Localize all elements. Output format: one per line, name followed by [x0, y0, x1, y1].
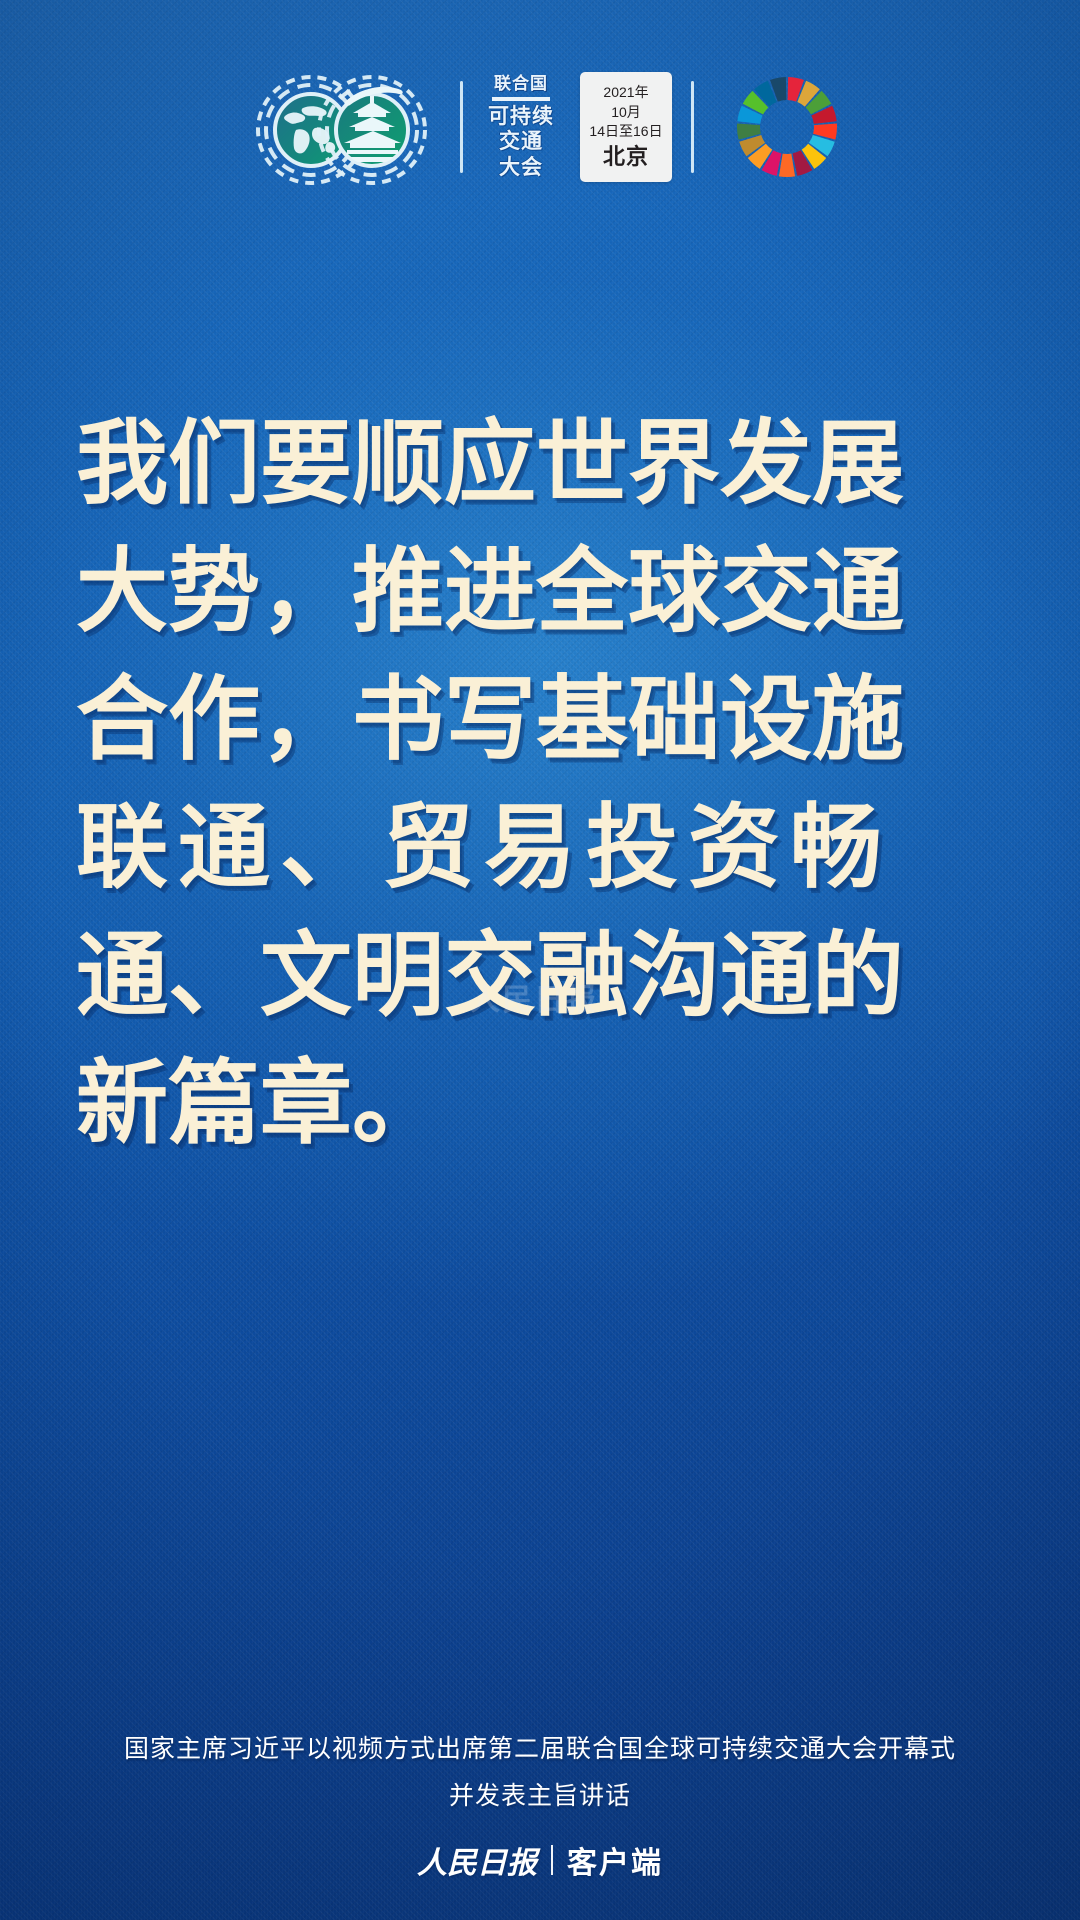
sdg-wheel-segment: [779, 154, 795, 177]
date-year: 2021年: [603, 83, 648, 102]
footer-brand: 人民日报 客户端: [0, 1838, 1080, 1882]
caption-line-1: 国家主席习近平以视频方式出席第二届联合国全球可持续交通大会开幕式: [0, 1725, 1080, 1772]
quote-line-5: 通、文明交融沟通的: [76, 912, 1004, 1040]
quote-line-1: 我们要顺应世界发展: [76, 400, 1004, 528]
brand-logo-text: 人民日报: [417, 1838, 537, 1882]
conference-name-line-3: 大会: [499, 156, 543, 180]
date-city: 北京: [603, 144, 649, 170]
conference-emblem-icon: [241, 68, 441, 186]
poster-root: 联合国 可持续 交通 大会 2021年 10月 14日至16日 北京 我们要顺应…: [0, 0, 1080, 1920]
header-divider-left: [460, 81, 463, 173]
poster-caption: 国家主席习近平以视频方式出席第二届联合国全球可持续交通大会开幕式 并发表主旨讲话: [0, 1725, 1080, 1819]
poster-header: 联合国 可持续 交通 大会 2021年 10月 14日至16日 北京: [0, 62, 1080, 192]
brand-product-name: 客户端: [567, 1838, 663, 1882]
header-divider-right: [691, 81, 694, 173]
quote-line-3: 合作，书写基础设施: [76, 656, 1004, 784]
brand-separator: [551, 1845, 553, 1875]
date-days: 14日至16日: [589, 122, 662, 141]
date-month: 10月: [611, 103, 641, 122]
quote-line-2: 大势，推进全球交通: [76, 528, 1004, 656]
date-location-card: 2021年 10月 14日至16日 北京: [580, 72, 672, 182]
caption-line-2: 并发表主旨讲话: [0, 1772, 1080, 1819]
conference-name-line-2: 交通: [499, 130, 543, 154]
quote-line-4: 联通、贸易投资畅: [76, 784, 1004, 912]
conference-name-block: 联合国 可持续 交通 大会: [482, 75, 560, 180]
sdg-color-wheel-icon: [735, 75, 839, 179]
main-quote: 我们要顺应世界发展 大势，推进全球交通 合作，书写基础设施 联通、贸易投资畅 通…: [76, 400, 1004, 1168]
conference-name-rule: [492, 97, 550, 101]
quote-line-6: 新篇章。: [76, 1040, 1004, 1168]
conference-organizer: 联合国: [494, 75, 548, 92]
conference-name-line-1: 可持续: [488, 105, 554, 129]
